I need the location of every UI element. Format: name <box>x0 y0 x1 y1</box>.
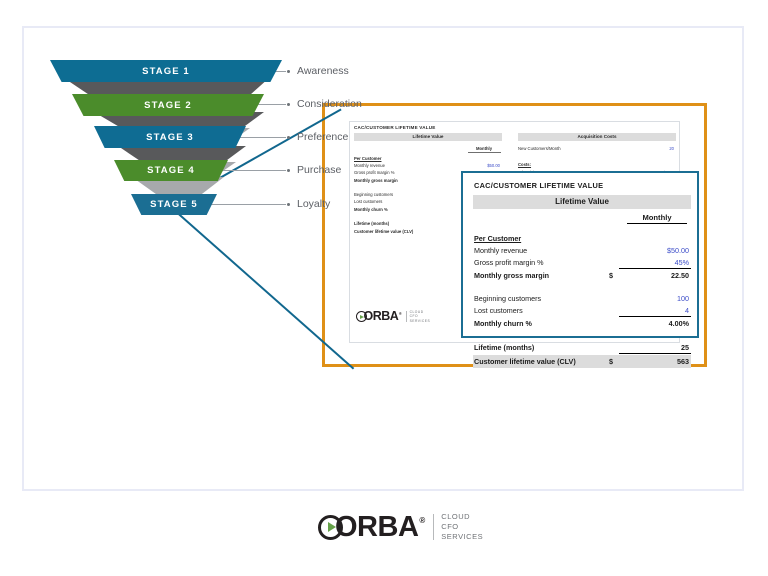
detail-label-monthly-gross-margin: Monthly gross margin <box>474 271 549 280</box>
detail-currency-clv: $ <box>609 357 613 366</box>
bg-row-clv: Customer lifetime value (CLV) <box>354 229 413 234</box>
funnel-stage-5[interactable]: STAGE 5 <box>131 194 217 215</box>
orba-tagline: CLOUD CFO SERVICES <box>410 310 431 323</box>
slide-canvas: CAC/CUSTOMER LIFETIME VALUE Lifetime Val… <box>0 0 768 576</box>
bg-row-gross-profit-margin: Gross profit margin % <box>354 170 395 175</box>
orba-logo-callout: ORBA ® CLOUD CFO SERVICES <box>356 310 430 323</box>
leader-line-4 <box>216 170 286 171</box>
detail-label-gross-profit-margin: Gross profit margin % <box>474 258 544 267</box>
bg-col-header-rule <box>468 152 501 153</box>
detail-panel-column-header-monthly: Monthly <box>627 213 687 224</box>
detail-value-beginning-customers: 100 <box>619 294 689 303</box>
magnified-detail-panel: CAC/CUSTOMER LIFETIME VALUE Lifetime Val… <box>461 171 699 338</box>
bg-row-monthly-revenue: Monthly revenue <box>354 163 385 168</box>
funnel-label-consideration: Consideration <box>297 98 362 110</box>
bg-band-lifetime-value: Lifetime Value <box>354 133 502 141</box>
funnel-stage-5-label: STAGE 5 <box>150 199 198 210</box>
detail-rule-clv <box>619 353 691 354</box>
bg-row-lost-customers: Lost customers <box>354 199 382 204</box>
footer-play-triangle-icon <box>328 522 336 532</box>
detail-label-lost-customers: Lost customers <box>474 306 523 315</box>
detail-value-lost-customers: 4 <box>619 306 689 315</box>
detail-rule-churn <box>619 316 691 317</box>
footer-orba-logo-divider <box>433 514 434 540</box>
detail-rule-gross-margin <box>619 268 691 269</box>
footer-orba-tagline-line1: CLOUD <box>441 512 483 522</box>
detail-value-lifetime-months: 25 <box>619 343 689 352</box>
orba-registered-mark: ® <box>399 311 402 316</box>
leader-dot-3 <box>287 136 290 139</box>
leader-dot-1 <box>287 70 290 73</box>
leader-dot-4 <box>287 169 290 172</box>
bg-val-new-customers-month: 20 <box>640 146 674 151</box>
bg-row-monthly-gross-margin: Monthly gross margin <box>354 178 398 183</box>
bg-col-header-monthly: Monthly <box>468 146 500 151</box>
detail-value-monthly-revenue: $50.00 <box>619 246 689 255</box>
funnel-stage-2[interactable]: STAGE 2 <box>72 94 264 116</box>
funnel-stage-3[interactable]: STAGE 3 <box>94 126 246 148</box>
funnel-stage-1[interactable]: STAGE 1 <box>50 60 282 82</box>
funnel-stage-4[interactable]: STAGE 4 <box>114 160 228 181</box>
bg-row-beginning-customers: Beginning customers <box>354 192 393 197</box>
funnel-stage-4-label: STAGE 4 <box>147 165 195 176</box>
footer-orba-tagline: CLOUD CFO SERVICES <box>441 512 483 542</box>
detail-panel-section-band: Lifetime Value <box>473 195 691 209</box>
bg-row-monthly-churn: Monthly churn % <box>354 207 388 212</box>
funnel-label-awareness: Awareness <box>297 65 349 77</box>
leader-line-5 <box>208 204 286 205</box>
play-triangle-icon <box>360 315 364 319</box>
footer-orba-wordmark: ORBA <box>335 513 418 542</box>
bg-val-monthly-revenue: $50.00 <box>460 163 500 168</box>
detail-currency-monthly-gross-margin: $ <box>609 271 613 280</box>
detail-label-lifetime-months: Lifetime (months) <box>474 343 534 352</box>
funnel-label-preference: Preference <box>297 131 348 143</box>
detail-label-per-customer: Per Customer <box>474 234 521 243</box>
footer-orba-play-mark-icon <box>318 515 343 540</box>
leader-dot-5 <box>287 203 290 206</box>
bg-band-acquisition-costs: Acquisition Costs <box>518 133 676 141</box>
footer-orba-tagline-line3: SERVICES <box>441 532 483 542</box>
detail-value-clv: 563 <box>619 357 689 366</box>
detail-label-clv: Customer lifetime value (CLV) <box>474 357 576 366</box>
detail-value-monthly-churn: 4.00% <box>619 319 689 328</box>
bg-sheet-title: CAC/CUSTOMER LIFETIME VALUE <box>354 125 436 130</box>
detail-value-monthly-gross-margin: 22.50 <box>619 271 689 280</box>
orba-tagline-line3: SERVICES <box>410 319 431 323</box>
detail-value-gross-profit-margin: 45% <box>619 258 689 267</box>
orba-logo-divider <box>406 311 407 322</box>
funnel-stage-3-label: STAGE 3 <box>146 132 194 143</box>
funnel-label-loyalty: Loyalty <box>297 198 330 210</box>
bg-row-per-customer: Per Customer <box>354 156 381 161</box>
funnel-stage-2-label: STAGE 2 <box>144 100 192 111</box>
funnel-stage-1-label: STAGE 1 <box>142 66 190 77</box>
leader-dot-2 <box>287 103 290 106</box>
footer-orba-registered-mark: ® <box>419 516 425 525</box>
bg-row-costs: Costs: <box>518 162 531 167</box>
detail-label-monthly-churn: Monthly churn % <box>474 319 532 328</box>
detail-panel-title: CAC/CUSTOMER LIFETIME VALUE <box>474 181 603 190</box>
orba-wordmark: ORBA <box>364 310 399 323</box>
footer-orba-tagline-line2: CFO <box>441 522 483 532</box>
bg-row-lifetime-months: Lifetime (months) <box>354 221 389 226</box>
footer-orba-logo: ORBA ® CLOUD CFO SERVICES <box>318 512 483 542</box>
detail-label-beginning-customers: Beginning customers <box>474 294 541 303</box>
detail-label-monthly-revenue: Monthly revenue <box>474 246 527 255</box>
funnel-label-purchase: Purchase <box>297 164 341 176</box>
leader-line-3 <box>234 137 286 138</box>
bg-row-new-customers-month: New Customers/Month <box>518 146 561 151</box>
